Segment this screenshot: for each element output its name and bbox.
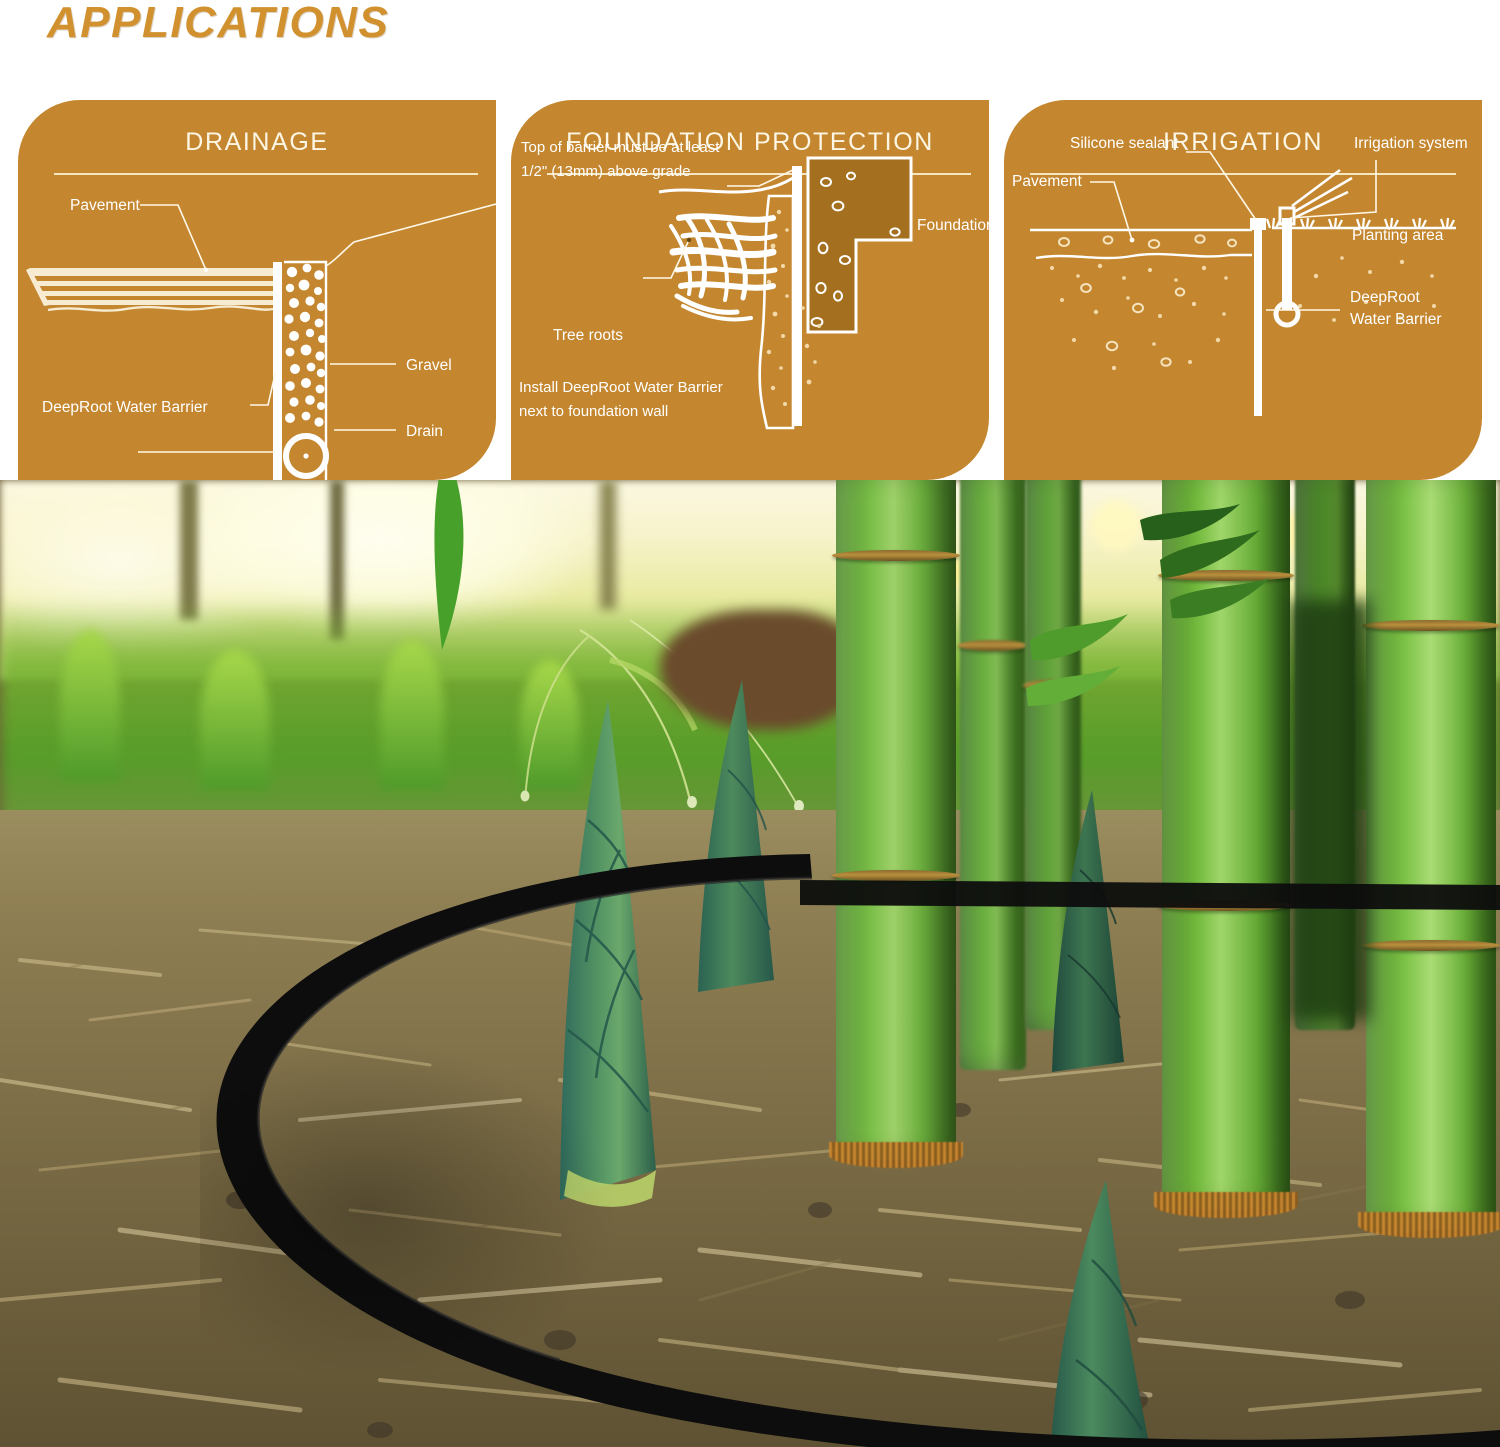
label-irrigation-system: Irrigation system: [1354, 135, 1468, 152]
label-foundation: Foundation: [917, 217, 989, 234]
label-barrier-line2: Water Barrier: [1350, 311, 1442, 328]
label-gravel: Gravel: [406, 357, 452, 374]
label-tree-roots: Tree roots: [553, 327, 623, 344]
label-install-line1: Install DeepRoot Water Barrier: [519, 379, 723, 396]
application-card-foundation: FOUNDATION PROTECTION: [511, 100, 989, 480]
label-pavement: Pavement: [70, 197, 140, 214]
label-silicone-sealant: Silicone sealant: [1070, 135, 1179, 152]
application-card-irrigation: IRRIGATION: [1004, 100, 1482, 480]
label-pavement: Pavement: [1012, 173, 1082, 190]
label-top-note-line2: 1/2" (13mm) above grade: [521, 163, 691, 180]
label-install-line2: next to foundation wall: [519, 403, 668, 420]
label-planting-area: Planting area: [1352, 227, 1444, 244]
label-drain: Drain: [406, 423, 443, 440]
foundation-diagram: Top of barrier must be at least 1/2" (13…: [511, 100, 989, 480]
page-title: APPLICATIONS: [47, 0, 389, 48]
label-top-note-line1: Top of barrier must be at least: [521, 139, 720, 156]
label-barrier-line1: DeepRoot: [1350, 289, 1420, 306]
drainage-diagram: Pavement DeepRoot Water Barrier Gravel D…: [18, 100, 496, 480]
label-barrier: DeepRoot Water Barrier: [42, 399, 208, 416]
barrier-shadow: [200, 1040, 620, 1380]
application-card-drainage: DRAINAGE: [18, 100, 496, 480]
irrigation-diagram: Silicone sealant Pavement Irrigation sys…: [1004, 100, 1482, 480]
product-photo: [0, 480, 1500, 1447]
